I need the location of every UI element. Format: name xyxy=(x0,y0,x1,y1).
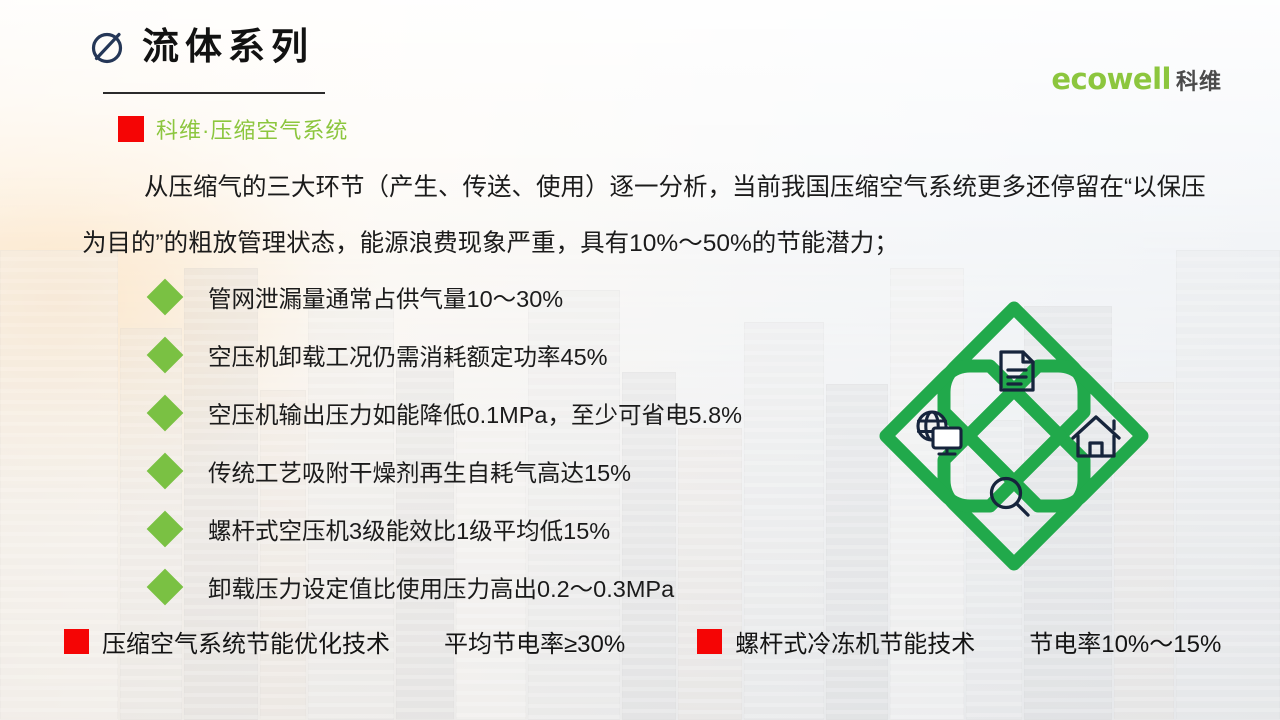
footer-item: 压缩空气系统节能优化技术 平均节电率≥30% xyxy=(64,624,625,659)
list-item-label: 空压机输出压力如能降低0.1MPa，至少可省电5.8% xyxy=(208,396,742,430)
section-title: 科维·压缩空气系统 xyxy=(156,113,348,145)
footer-item-value: 平均节电率≥30% xyxy=(444,624,625,659)
bullet-list: 管网泄漏量通常占供气量10～30% 空压机卸载工况仍需消耗额定功率45% 空压机… xyxy=(152,268,742,616)
footer-item-label: 螺杆式冷冻机节能技术 xyxy=(735,624,975,659)
page-title: 流体系列 xyxy=(142,28,314,65)
slide-canvas: 流体系列 ecowell 科维 科维·压缩空气系统 从压缩气的三大环节（产生、传… xyxy=(0,0,1280,720)
green-diamond-icon xyxy=(147,569,184,606)
red-square-icon xyxy=(697,629,722,654)
green-diamond-icon xyxy=(147,511,184,548)
green-diamond-icon xyxy=(147,453,184,490)
diameter-circle-slash-icon xyxy=(88,26,128,66)
green-diamond-icon xyxy=(147,279,184,316)
list-item: 空压机卸载工况仍需消耗额定功率45% xyxy=(152,326,742,384)
footer-bar: 压缩空气系统节能优化技术 平均节电率≥30% 螺杆式冷冻机节能技术 节电率10%… xyxy=(64,624,1248,659)
list-item-label: 空压机卸载工况仍需消耗额定功率45% xyxy=(208,338,608,372)
footer-item-label: 压缩空气系统节能优化技术 xyxy=(102,624,390,659)
four-petal-clover-graphic xyxy=(878,300,1150,572)
list-item: 管网泄漏量通常占供气量10～30% xyxy=(152,268,742,326)
page-title-row: 流体系列 xyxy=(88,26,314,66)
list-item: 空压机输出压力如能降低0.1MPa，至少可省电5.8% xyxy=(152,384,742,442)
footer-item-value: 节电率10%～15% xyxy=(1029,624,1221,659)
list-item: 螺杆式空压机3级能效比1级平均低15% xyxy=(152,500,742,558)
brand-logo-en: ecowell xyxy=(1051,62,1171,96)
green-diamond-icon xyxy=(147,395,184,432)
red-square-icon xyxy=(118,116,144,142)
list-item-label: 卸载压力设定值比使用压力高出0.2～0.3MPa xyxy=(208,570,674,604)
list-item: 传统工艺吸附干燥剂再生自耗气高达15% xyxy=(152,442,742,500)
green-diamond-icon xyxy=(147,337,184,374)
list-item-label: 传统工艺吸附干燥剂再生自耗气高达15% xyxy=(208,454,631,488)
red-square-icon xyxy=(64,629,89,654)
footer-item: 螺杆式冷冻机节能技术 节电率10%～15% xyxy=(697,624,1221,659)
title-underline xyxy=(103,92,325,94)
brand-logo-cn: 科维 xyxy=(1176,64,1222,96)
intro-paragraph: 从压缩气的三大环节（产生、传送、使用）逐一分析，当前我国压缩空气系统更多还停留在… xyxy=(82,160,1212,272)
list-item-label: 螺杆式空压机3级能效比1级平均低15% xyxy=(208,512,610,546)
brand-logo: ecowell 科维 xyxy=(1051,62,1222,96)
list-item: 卸载压力设定值比使用压力高出0.2～0.3MPa xyxy=(152,558,742,616)
list-item-label: 管网泄漏量通常占供气量10～30% xyxy=(208,280,563,314)
section-heading: 科维·压缩空气系统 xyxy=(118,113,348,145)
